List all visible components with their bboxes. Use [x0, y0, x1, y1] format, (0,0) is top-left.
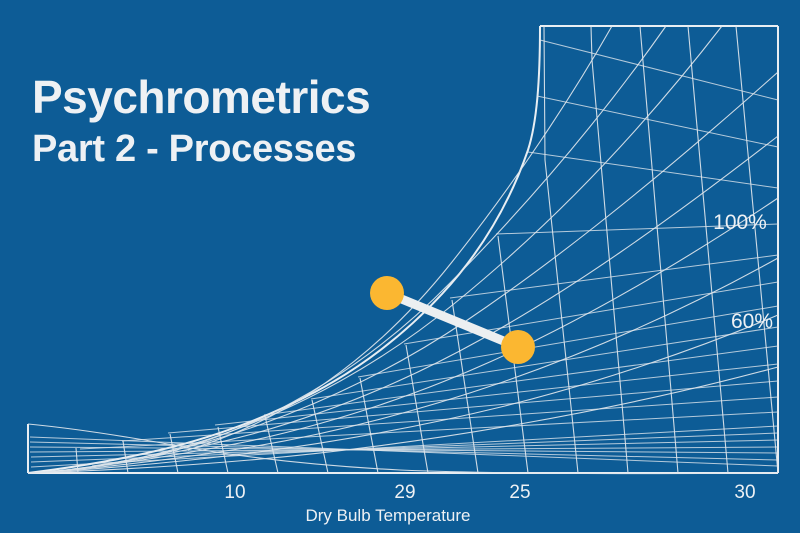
x-tick-label-29: 29 — [394, 482, 415, 503]
rh-curve-80 — [150, 26, 666, 457]
psychrometric-chart: 10 29 25 30 Dry Bulb Temperature 100% 60… — [0, 0, 800, 533]
x-tick-label-25: 25 — [509, 482, 530, 503]
rh-label-60: 60% — [731, 310, 773, 333]
dry-bulb-line — [688, 26, 728, 473]
humidity-ratio-line — [404, 282, 778, 344]
process-group — [370, 276, 535, 364]
state-point-1[interactable] — [370, 276, 404, 310]
humidity-ratio-line — [80, 412, 778, 449]
relative-humidity-curves — [28, 26, 778, 473]
x-tick-label-30: 30 — [734, 482, 755, 503]
rh-annotations: 100% 60% — [713, 211, 773, 333]
rh-curve-90 — [188, 26, 612, 450]
chart-frame — [28, 26, 778, 473]
dry-bulb-line — [591, 26, 628, 473]
psychrometric-chart-slide: 10 29 25 30 Dry Bulb Temperature 100% 60… — [0, 0, 800, 533]
rh-curve-40 — [55, 198, 778, 471]
x-tick-label-10: 10 — [224, 482, 245, 503]
humidity-ratio-gridlines — [30, 40, 778, 467]
axis-labels: 10 29 25 30 Dry Bulb Temperature — [224, 482, 755, 525]
humidity-ratio-line — [540, 40, 778, 100]
state-point-2[interactable] — [501, 330, 535, 364]
rh-label-100: 100% — [713, 211, 767, 234]
x-axis-title: Dry Bulb Temperature — [305, 506, 470, 525]
dry-bulb-line — [736, 26, 778, 473]
saturation-curve — [28, 26, 540, 473]
humidity-ratio-line — [450, 255, 778, 298]
rh-curve-50 — [72, 136, 778, 469]
dry-bulb-line — [544, 26, 578, 473]
dry-bulb-line — [360, 378, 378, 473]
rh-curve-60 — [92, 72, 778, 466]
saturation-curve-group — [28, 26, 778, 474]
